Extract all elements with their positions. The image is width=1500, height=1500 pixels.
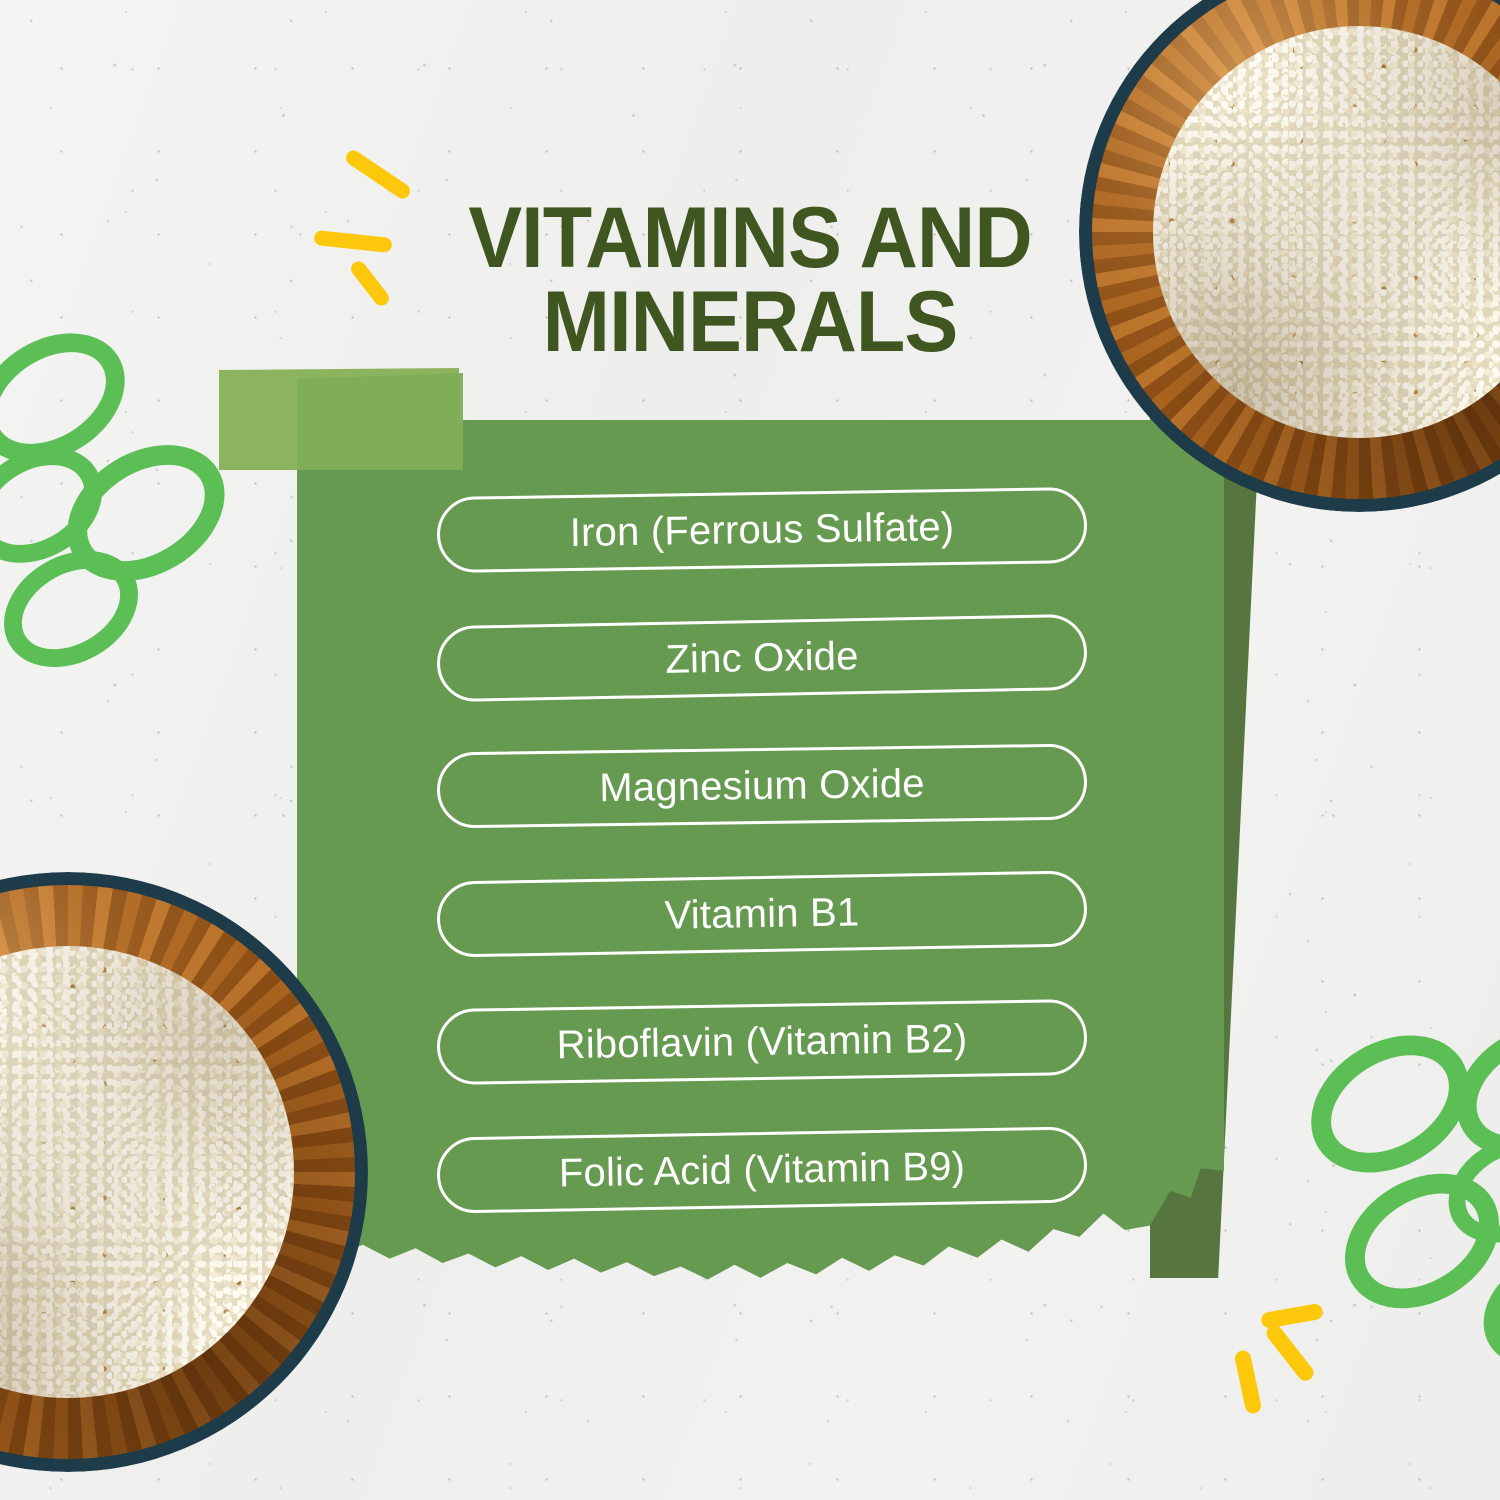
nutrient-pill[interactable]: Folic Acid (Vitamin B9): [436, 1126, 1087, 1213]
nutrient-pill[interactable]: Vitamin B1: [436, 870, 1087, 957]
nutrient-pill[interactable]: Iron (Ferrous Sulfate): [436, 487, 1087, 573]
nutrient-list: Iron (Ferrous Sulfate)Zinc OxideMagnesiu…: [437, 492, 1087, 1260]
nutrient-pill-label: Iron (Ferrous Sulfate): [569, 507, 954, 553]
nutrient-pill[interactable]: Magnesium Oxide: [437, 743, 1088, 828]
nutrient-pill-label: Riboflavin (Vitamin B2): [556, 1019, 967, 1065]
nutrient-pill-label: Vitamin B1: [664, 892, 859, 935]
nutrient-pill-label: Magnesium Oxide: [599, 764, 925, 809]
nutrient-pill[interactable]: Zinc Oxide: [436, 614, 1087, 702]
panel-accent-mid-shape: [297, 373, 463, 470]
nutrient-pill[interactable]: Riboflavin (Vitamin B2): [436, 999, 1087, 1085]
nutrient-pill-label: Folic Acid (Vitamin B9): [559, 1146, 966, 1193]
page-title: VITAMINS AND MINERALS: [421, 196, 1079, 365]
nutrient-pill-label: Zinc Oxide: [665, 636, 859, 680]
infographic-poster: VITAMINS AND MINERALS Iron (Ferrous Sulf…: [0, 0, 1500, 1500]
